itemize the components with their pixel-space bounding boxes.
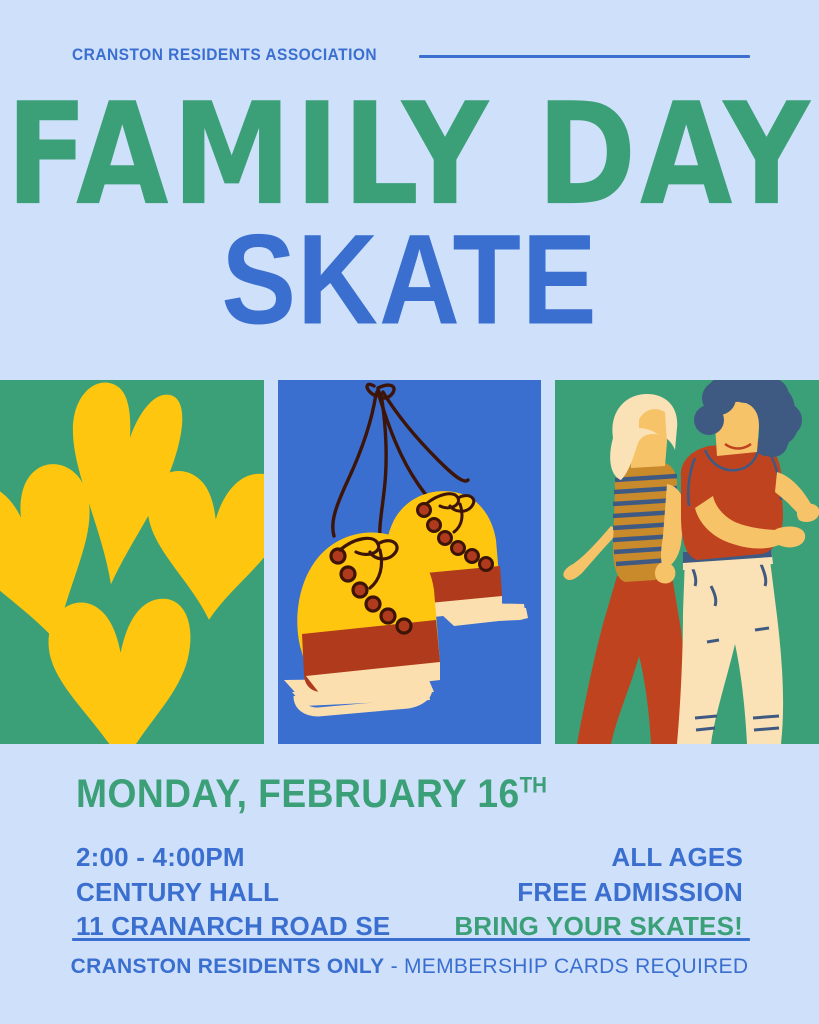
event-details-right: ALL AGES FREE ADMISSION BRING YOUR SKATE…	[454, 840, 743, 944]
skaters-panel	[555, 380, 819, 744]
poster-header: CRANSTON RESIDENTS ASSOCIATION	[72, 42, 750, 68]
event-venue: CENTURY HALL	[76, 875, 390, 910]
image-panel-row	[0, 380, 819, 744]
event-date-suffix: TH	[520, 773, 547, 798]
skates-panel	[278, 380, 541, 744]
event-audience: ALL AGES	[454, 840, 743, 875]
event-details-left: 2:00 - 4:00PM CENTURY HALL 11 CRANARCH R…	[76, 840, 390, 944]
title-line-family-day: FAMILY DAY	[0, 90, 819, 220]
footer-note: CRANSTON RESIDENTS ONLY - MEMBERSHIP CAR…	[0, 955, 819, 979]
event-date: MONDAY, FEBRUARY 16TH	[76, 772, 547, 817]
header-divider-rule	[419, 55, 750, 58]
poster-canvas: CRANSTON RESIDENTS ASSOCIATION FAMILY DA…	[0, 0, 819, 1024]
footer-restriction: CRANSTON RESIDENTS ONLY	[71, 955, 385, 978]
front-skate	[284, 532, 440, 712]
organization-name: CRANSTON RESIDENTS ASSOCIATION	[72, 46, 377, 65]
skater-right	[677, 380, 819, 744]
event-price: FREE ADMISSION	[454, 875, 743, 910]
heart-icon	[42, 588, 203, 744]
footer-membership-note: - MEMBERSHIP CARDS REQUIRED	[384, 955, 748, 978]
event-details: 2:00 - 4:00PM CENTURY HALL 11 CRANARCH R…	[76, 840, 743, 944]
ice-skates-illustration	[278, 380, 541, 744]
skaters-illustration	[555, 380, 819, 744]
title-line-skate: SKATE	[0, 220, 819, 341]
event-date-text: MONDAY, FEBRUARY 16	[76, 772, 520, 816]
footer-divider-rule	[72, 938, 750, 941]
hearts-panel	[0, 380, 264, 744]
skater-left	[563, 394, 685, 744]
event-time: 2:00 - 4:00PM	[76, 840, 390, 875]
poster-title-block: FAMILY DAY SKATE	[0, 90, 819, 326]
